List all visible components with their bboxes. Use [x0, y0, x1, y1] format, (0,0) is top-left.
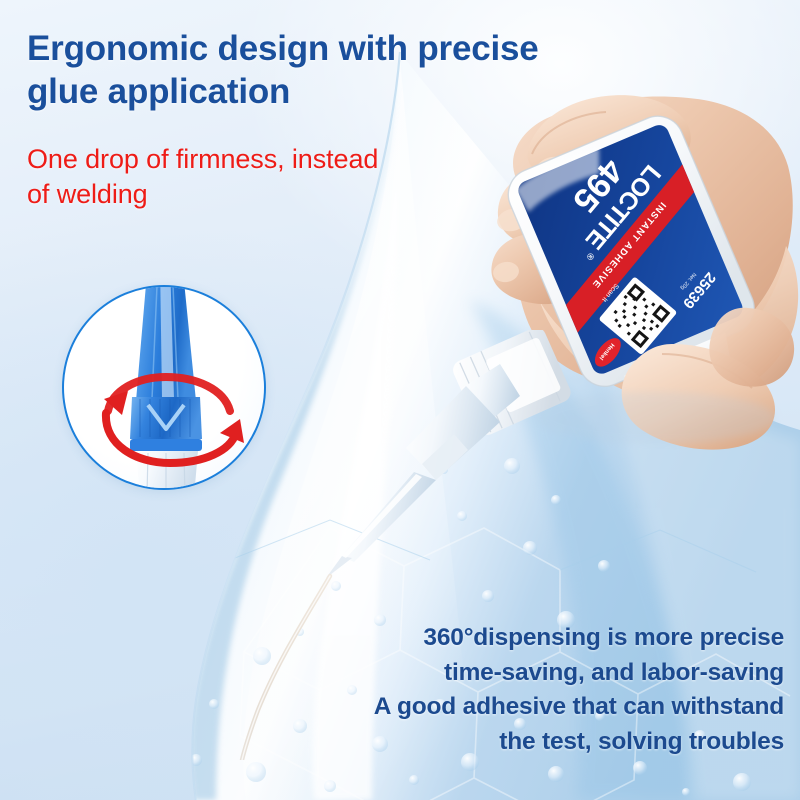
bottle-collar — [450, 330, 574, 438]
rotating-nozzle-inset — [62, 285, 266, 490]
bottom-marketing-copy: 360°dispensing is more precise time-savi… — [184, 621, 784, 760]
label-red-stripe: INSTANT ADHESIVE — [533, 164, 727, 332]
brand-badge-text: Henkel — [597, 342, 614, 361]
blue-cap — [130, 285, 202, 451]
bottom-copy-line-3: A good adhesive that can withstand — [184, 690, 784, 725]
bottom-copy-line-4: the test, solving troubles — [184, 725, 784, 760]
label-model-text: 495 — [565, 151, 631, 219]
bottom-copy-line-1: 360°dispensing is more precise — [184, 621, 784, 656]
pinky-finger — [709, 308, 794, 387]
hand-holding-bottle: INSTANT ADHESIVE LOCTITE ® 495 — [476, 58, 800, 458]
headline-line-2: glue application — [27, 71, 547, 114]
label-registered-mark: ® — [584, 251, 596, 263]
thumb — [622, 344, 775, 450]
ring-finger — [491, 233, 590, 304]
label-code-number: 25639 — [679, 269, 719, 312]
qr-caption-text: Scan It — [600, 282, 619, 303]
product-marketing-image: INSTANT ADHESIVE LOCTITE ® 495 — [0, 0, 800, 800]
brand-badge: Henkel — [590, 334, 626, 372]
page-headline: Ergonomic design with precise glue appli… — [27, 28, 547, 113]
bottom-copy-line-2: time-saving, and labor-saving — [184, 656, 784, 691]
qr-code-icon: Scan It — [589, 269, 677, 356]
headline-line-1: Ergonomic design with precise — [27, 28, 547, 71]
subheadline-line-2: of welding — [27, 177, 527, 212]
index-finger — [527, 95, 690, 188]
hand-palm — [513, 97, 798, 402]
bottle-label: INSTANT ADHESIVE LOCTITE ® 495 — [512, 115, 745, 376]
page-subheadline: One drop of firmness, instead of welding — [27, 142, 527, 212]
label-stripe-text: INSTANT ADHESIVE — [589, 200, 667, 291]
adhesive-bottle: INSTANT ADHESIVE LOCTITE ® 495 — [500, 108, 774, 422]
subheadline-line-1: One drop of firmness, instead — [27, 142, 527, 177]
label-brand-text: LOCTITE — [580, 159, 666, 254]
label-code-block: 25639 Net. 20g — [672, 263, 719, 312]
label-brand-block: LOCTITE ® 495 — [543, 135, 666, 264]
label-net-weight: Net. 20g — [679, 271, 697, 291]
